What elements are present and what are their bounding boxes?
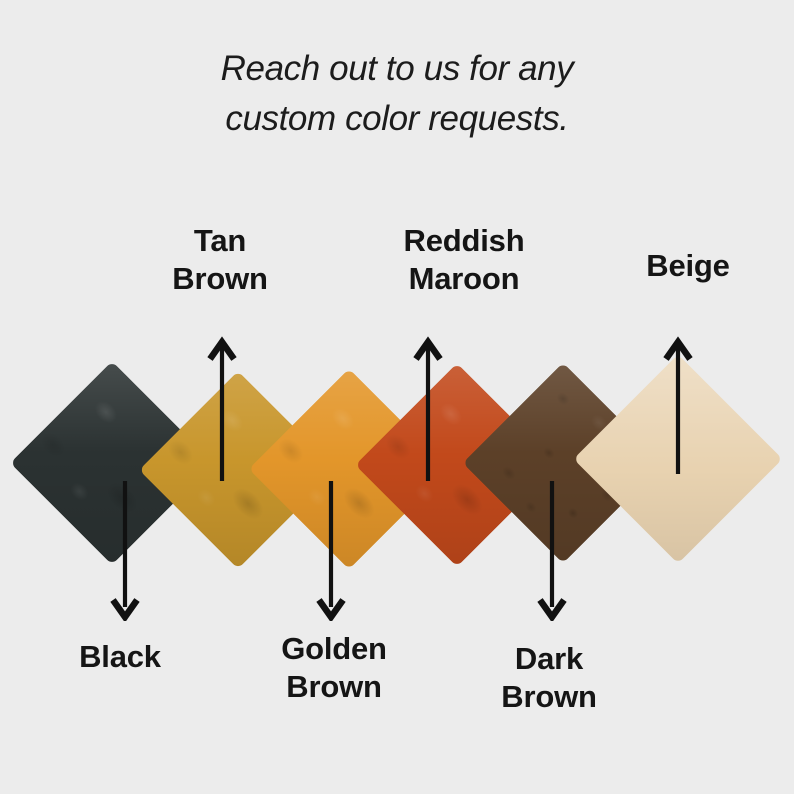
headline-line-2: custom color requests. xyxy=(0,94,794,144)
arrow-up-beige xyxy=(661,336,695,476)
arrow-up-reddish-maroon xyxy=(411,336,445,481)
arrow-up-tan-brown xyxy=(205,336,239,481)
arrow-down-dark-brown xyxy=(535,481,569,621)
label-tan-brown: Tan Brown xyxy=(130,222,310,298)
headline-line-1: Reach out to us for any xyxy=(0,44,794,94)
label-reddish-maroon: Reddish Maroon xyxy=(368,222,560,298)
arrow-down-black xyxy=(108,481,142,621)
color-swatch-graphic: Reach out to us for any custom color req… xyxy=(0,0,794,794)
page-title: Reach out to us for any custom color req… xyxy=(0,44,794,144)
label-golden-brown: Golden Brown xyxy=(238,630,430,706)
arrow-down-golden-brown xyxy=(314,481,348,621)
label-black: Black xyxy=(30,638,210,676)
label-beige: Beige xyxy=(592,247,784,285)
label-dark-brown: Dark Brown xyxy=(456,640,642,716)
